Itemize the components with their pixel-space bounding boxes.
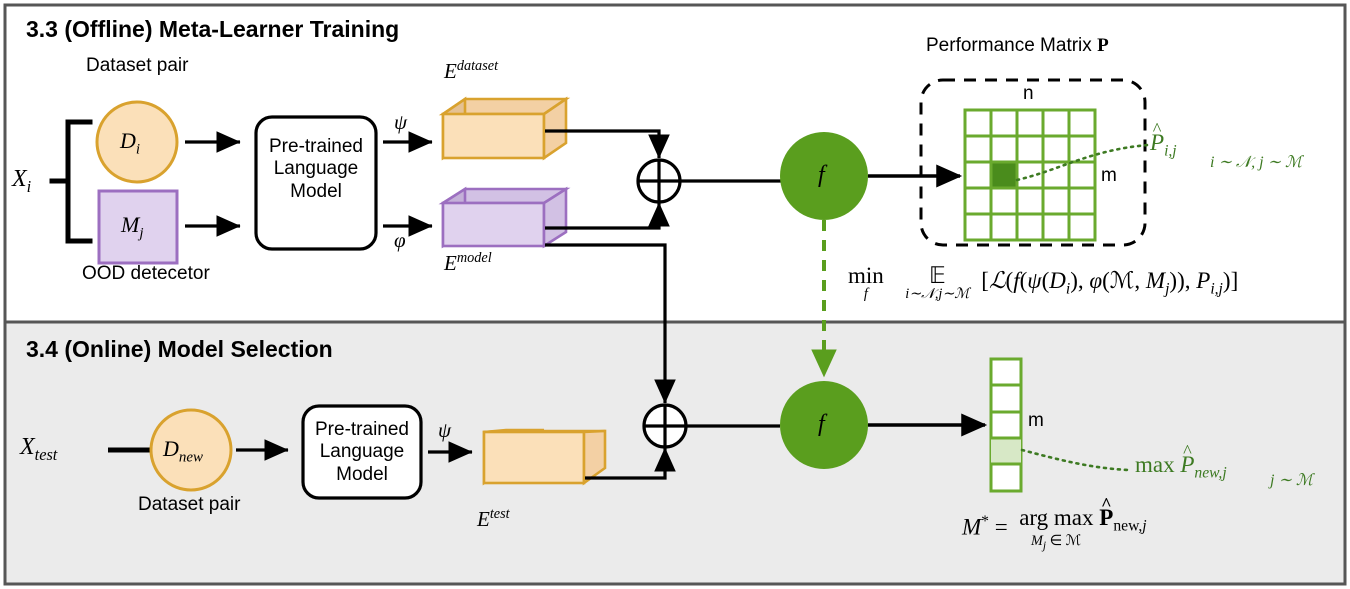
matrix-dim-rows-label: m bbox=[1101, 165, 1117, 187]
embedding-test-box bbox=[484, 430, 605, 483]
plm-label-online: Pre-trained Language Model bbox=[303, 419, 421, 486]
metalearner-label-online: f bbox=[818, 411, 825, 438]
phi-label-offline: φ bbox=[394, 228, 406, 253]
matrix-dim-cols-label: n bbox=[1023, 83, 1034, 105]
expectation-operator: 𝔼i∼𝒩,j∼ℳ bbox=[905, 264, 969, 301]
plm-online-line-1: Pre-trained bbox=[303, 419, 421, 441]
embedding-dataset-label: Edataset bbox=[444, 58, 498, 84]
embedding-model-label: Emodel bbox=[444, 250, 492, 276]
caption-ood-detector: OOD detecetor bbox=[82, 263, 210, 285]
dataset-node-label-offline: Di bbox=[120, 128, 140, 158]
dataset-node-label-online: Dnew bbox=[163, 436, 203, 466]
section-title-online: 3.4 (Online) Model Selection bbox=[26, 336, 333, 363]
vector-annotation: max ^Pnew,j bbox=[1135, 452, 1227, 483]
embedding-test-label: Etest bbox=[477, 506, 510, 532]
input-label-offline: Xi bbox=[12, 166, 31, 197]
objective-formula: minf 𝔼i∼𝒩,j∼ℳ [ℒ(f(ψ(Di), φ(ℳ, Mj)), Pi,… bbox=[848, 264, 1238, 301]
psi-label-offline: ψ bbox=[394, 110, 407, 135]
caption-dataset-pair-offline: Dataset pair bbox=[86, 55, 188, 77]
plm-line-3: Model bbox=[256, 181, 376, 203]
caption-dataset-pair-online: Dataset pair bbox=[138, 494, 240, 516]
sum-operator-offline bbox=[638, 160, 680, 202]
input-label-online: Xtest bbox=[20, 434, 57, 465]
matrix-title: Performance Matrix P bbox=[926, 35, 1109, 57]
plm-online-line-2: Language bbox=[303, 441, 421, 463]
matrix-annotation: ^Pi,j bbox=[1150, 130, 1177, 161]
min-operator: minf bbox=[848, 264, 884, 301]
embedding-dataset-box bbox=[443, 99, 566, 158]
plm-line-2: Language bbox=[256, 158, 376, 180]
psi-label-online: ψ bbox=[438, 418, 451, 443]
plm-line-1: Pre-trained bbox=[256, 136, 376, 158]
metalearner-label-offline: f bbox=[818, 162, 825, 189]
section-title-offline: 3.3 (Offline) Meta-Learner Training bbox=[26, 16, 399, 43]
model-node-label-offline: Mj bbox=[121, 212, 143, 242]
result-formula: M* = arg max ^Pnew,j Mj ∈ ℳ bbox=[962, 506, 1147, 552]
matrix-highlight-cell bbox=[991, 162, 1017, 188]
figure-root: 3.3 (Offline) Meta-Learner Training Data… bbox=[0, 0, 1350, 589]
vector-dim-label: m bbox=[1028, 410, 1044, 432]
argmax-operator: arg max ^Pnew,j Mj ∈ ℳ bbox=[1019, 506, 1146, 552]
plm-label-offline: Pre-trained Language Model bbox=[256, 136, 376, 203]
matrix-annotation-condition: i ∼ 𝒩, j ∼ ℳ bbox=[1210, 152, 1302, 172]
embedding-model-box bbox=[443, 189, 566, 246]
sum-operator-online bbox=[644, 405, 686, 447]
output-vector-highlight-cell bbox=[991, 438, 1021, 464]
plm-online-line-3: Model bbox=[303, 464, 421, 486]
vector-annotation-condition: j ∼ ℳ bbox=[1270, 470, 1313, 490]
